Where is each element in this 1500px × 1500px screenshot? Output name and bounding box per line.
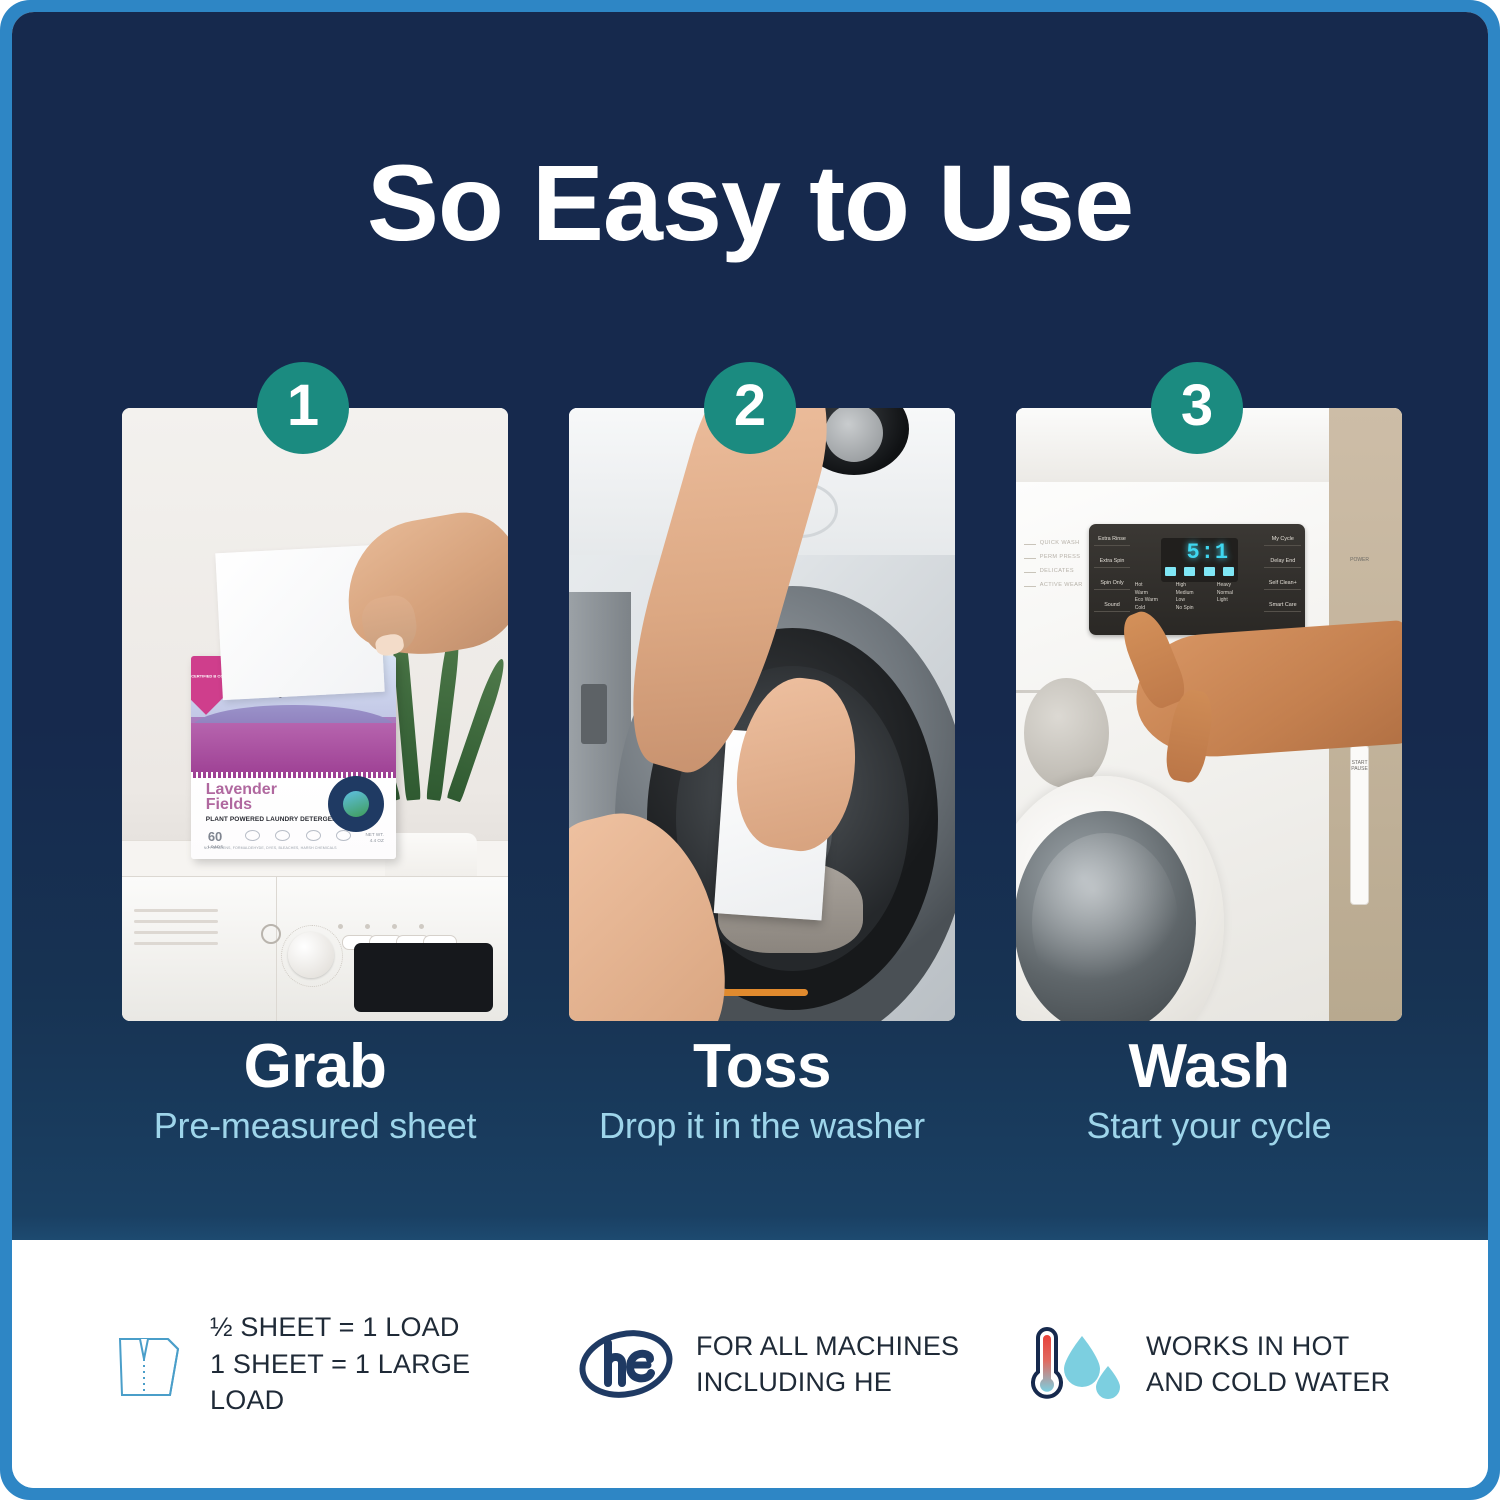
spin-option-no-spin[interactable]: No Spin [1176,605,1194,613]
box-net-weight: NET WT. 4.4 OZ [365,832,383,843]
display-time-value: 5:1 [1187,540,1230,565]
spin-options-column[interactable]: High Medium Low No Spin [1176,582,1194,613]
promo-card-inner: So Easy to Use 1 [12,12,1488,1488]
promo-card-frame: So Easy to Use 1 [0,0,1500,1500]
net-weight-label: NET WT. [365,832,383,838]
spin-option-low[interactable]: Low [1176,597,1194,605]
button-extra-rinse[interactable]: Extra Rinse [1094,533,1131,546]
cycle-label-list: QUICK WASH PERM PRESS DELICATES ACTIVE W… [1024,537,1083,593]
spin-option-medium[interactable]: Medium [1176,590,1194,598]
box-tagline: PLANT POWERED LAUNDRY DETERGENT [206,816,341,823]
washer-control-panel[interactable]: Extra Rinse Extra Spin Spin Only Sound 5… [1089,524,1305,634]
door-hinge [581,684,607,744]
houseplant [380,659,500,855]
temp-option-eco-warm[interactable]: Eco Warm [1135,597,1158,605]
start-pause-button[interactable]: START PAUSE [1350,745,1369,904]
step-3-photo: QUICK WASH PERM PRESS DELICATES ACTIVE W… [1016,408,1402,1021]
net-weight-value: 4.4 OZ [365,838,383,844]
step-3-subtitle: Start your cycle [1004,1105,1414,1147]
panel-text-lines [134,909,219,988]
step-1-caption: Grab Pre-measured sheet [110,1034,520,1147]
step-2-caption: Toss Drop it in the washer [557,1034,967,1147]
washing-machine-panel [122,876,508,1021]
step-number-badge-2: 2 [704,362,796,454]
button-spin-only[interactable]: Spin Only [1094,577,1131,590]
left-button-column[interactable]: Extra Rinse Extra Spin Spin Only Sound [1094,524,1131,621]
step-1-photo: CERTIFIED B CORP good laundry Lavender F… [122,408,508,1021]
temp-options-column[interactable]: Hot Warm Eco Warm Cold [1135,582,1158,613]
soil-option-normal[interactable]: Normal [1217,590,1233,598]
button-delay-end[interactable]: Delay End [1264,555,1301,568]
feature-he-machines-text: FOR ALL MACHINES INCLUDING HE [696,1328,959,1401]
claim-icon-3 [306,830,321,841]
step-3-caption: Wash Start your cycle [1004,1034,1414,1147]
step-number-badge-1: 1 [257,362,349,454]
hero-section: So Easy to Use 1 [12,12,1488,1240]
temp-option-warm[interactable]: Warm [1135,590,1158,598]
box-variant: Lavender Fields [206,782,277,813]
thermometer-droplets-icon [1016,1322,1124,1406]
button-sound[interactable]: Sound [1094,599,1131,612]
button-my-cycle[interactable]: My Cycle [1264,533,1301,546]
button-extra-spin[interactable]: Extra Spin [1094,555,1131,568]
box-variant-line1: Lavender [206,782,277,798]
feature-he-machines: FOR ALL MACHINES INCLUDING HE [578,1325,978,1403]
cycle-label-delicates: DELICATES [1024,565,1083,579]
steps-row: 1 [12,12,1488,1240]
cycle-label-perm-press: PERM PRESS [1024,551,1083,565]
button-smart-care[interactable]: Smart Care [1264,599,1301,612]
claim-icon-2 [275,830,290,841]
cycle-label-quick-wash: QUICK WASH [1024,537,1083,551]
button-self-clean[interactable]: Self Clean+ [1264,577,1301,590]
claim-icon-1 [245,830,260,841]
cycle-label-active-wear: ACTIVE WEAR [1024,579,1083,593]
step-2-title: Toss [557,1034,967,1099]
box-claim-icons [245,830,351,841]
globe-icon [343,791,369,817]
spin-option-high[interactable]: High [1176,582,1194,590]
feature-water-temperature-text: WORKS IN HOT AND COLD WATER [1146,1328,1390,1401]
box-planet-seal [328,776,384,832]
temp-option-hot[interactable]: Hot [1135,582,1158,590]
soil-option-heavy[interactable]: Heavy [1217,582,1233,590]
panel-display [354,943,493,1012]
step-2-photo [569,408,955,1021]
soil-options-column[interactable]: Heavy Normal Light [1217,582,1233,605]
box-fine-print: NO PARABENS, FORMALDEHYDE, DYES, BLEACHE… [204,846,384,850]
step-1-title: Grab [110,1034,520,1099]
display-status-chips [1165,567,1234,576]
washer-dispenser-lid [1024,678,1109,788]
box-art-lavender-field [191,723,396,778]
box-variant-line2: Fields [206,797,277,813]
step-3-title: Wash [1004,1034,1414,1099]
power-icon [261,924,281,944]
washer-door-glass [1016,811,1196,1021]
half-sheet-icon [110,1325,188,1403]
feature-sheet-dosage: ½ SHEET = 1 LOAD 1 SHEET = 1 LARGE LOAD [110,1309,530,1418]
feature-water-temperature: WORKS IN HOT AND COLD WATER [1016,1322,1436,1406]
right-button-column[interactable]: My Cycle Delay End Self Clean+ Smart Car… [1264,524,1301,621]
soil-option-light[interactable]: Light [1217,597,1233,605]
cycle-dial [288,932,334,978]
step-number-badge-3: 3 [1151,362,1243,454]
he-logo-icon [578,1325,674,1403]
washer-display: 5:1 [1161,538,1239,582]
box-loads-count: 60 [208,829,222,844]
step-1-subtitle: Pre-measured sheet [110,1105,520,1147]
step-2-subtitle: Drop it in the washer [557,1105,967,1147]
feature-sheet-dosage-text: ½ SHEET = 1 LOAD 1 SHEET = 1 LARGE LOAD [210,1309,530,1418]
claim-icon-4 [336,830,351,841]
features-strip: ½ SHEET = 1 LOAD 1 SHEET = 1 LARGE LOAD … [12,1240,1488,1488]
panel-seam [276,877,277,1021]
